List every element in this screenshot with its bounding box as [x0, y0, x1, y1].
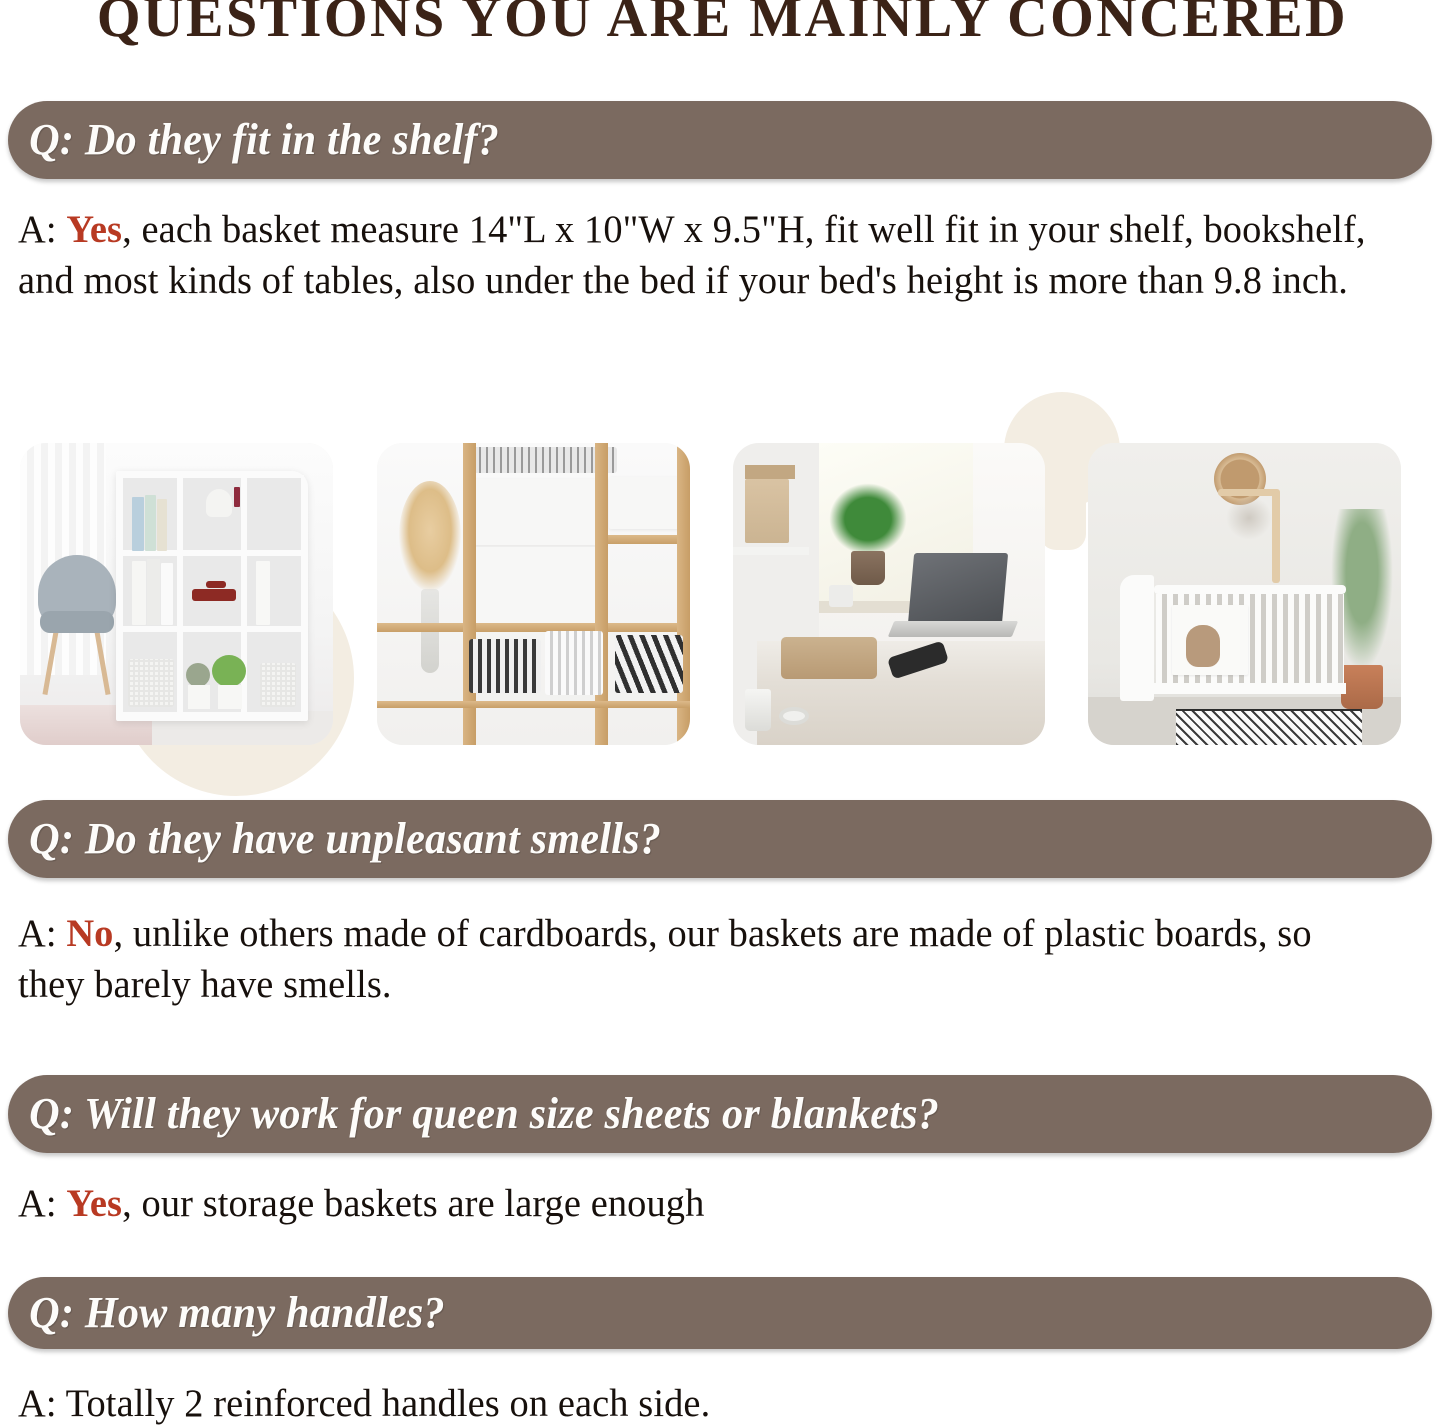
photo-bamboo-shelf [377, 443, 690, 745]
answer-highlight-2: No [66, 912, 113, 955]
answer-text-2: A: No, unlike others made of cardboards,… [18, 908, 1367, 1010]
answer-text-3: A: Yes, our storage baskets are large en… [18, 1178, 1377, 1229]
question-text-3: Q: Will they work for queen size sheets … [8, 1089, 939, 1139]
question-bar-4[interactable]: Q: How many handles? [8, 1277, 1432, 1349]
page-title: QUESTIONS YOU ARE MAINLY CONCERED [11, 0, 1434, 50]
photo-home-office-desk [733, 443, 1045, 745]
answer-text-1: A: Yes, each basket measure 14"L x 10"W … [18, 204, 1422, 306]
answer-rest-1: , each basket measure 14"L x 10"W x 9.5"… [18, 208, 1366, 302]
answer-prefix-3: A: [18, 1182, 66, 1225]
question-bar-2[interactable]: Q: Do they have unpleasant smells? [8, 800, 1432, 878]
question-text-2: Q: Do they have unpleasant smells? [8, 814, 661, 864]
question-bar-3[interactable]: Q: Will they work for queen size sheets … [8, 1075, 1432, 1153]
answer-rest-3: , our storage baskets are large enough [122, 1182, 704, 1225]
answer-highlight-3: Yes [66, 1182, 122, 1225]
answer-prefix-1: A: [18, 208, 66, 251]
answer-rest-2: , unlike others made of cardboards, our … [18, 912, 1312, 1006]
photo-gallery [0, 443, 1445, 745]
photo-cube-bookshelf [20, 443, 333, 745]
answer-prefix-2: A: [18, 912, 66, 955]
photo-nursery-crib [1088, 443, 1401, 745]
question-text-1: Q: Do they fit in the shelf? [8, 115, 499, 165]
answer-highlight-1: Yes [66, 208, 122, 251]
answer-prefix-4: A: Totally 2 reinforced handles on each … [18, 1382, 710, 1425]
faq-page: QUESTIONS YOU ARE MAINLY CONCERED Q: Do … [0, 0, 1445, 1428]
answer-text-4: A: Totally 2 reinforced handles on each … [18, 1378, 1377, 1428]
question-bar-1[interactable]: Q: Do they fit in the shelf? [8, 101, 1432, 179]
question-text-4: Q: How many handles? [8, 1288, 445, 1338]
